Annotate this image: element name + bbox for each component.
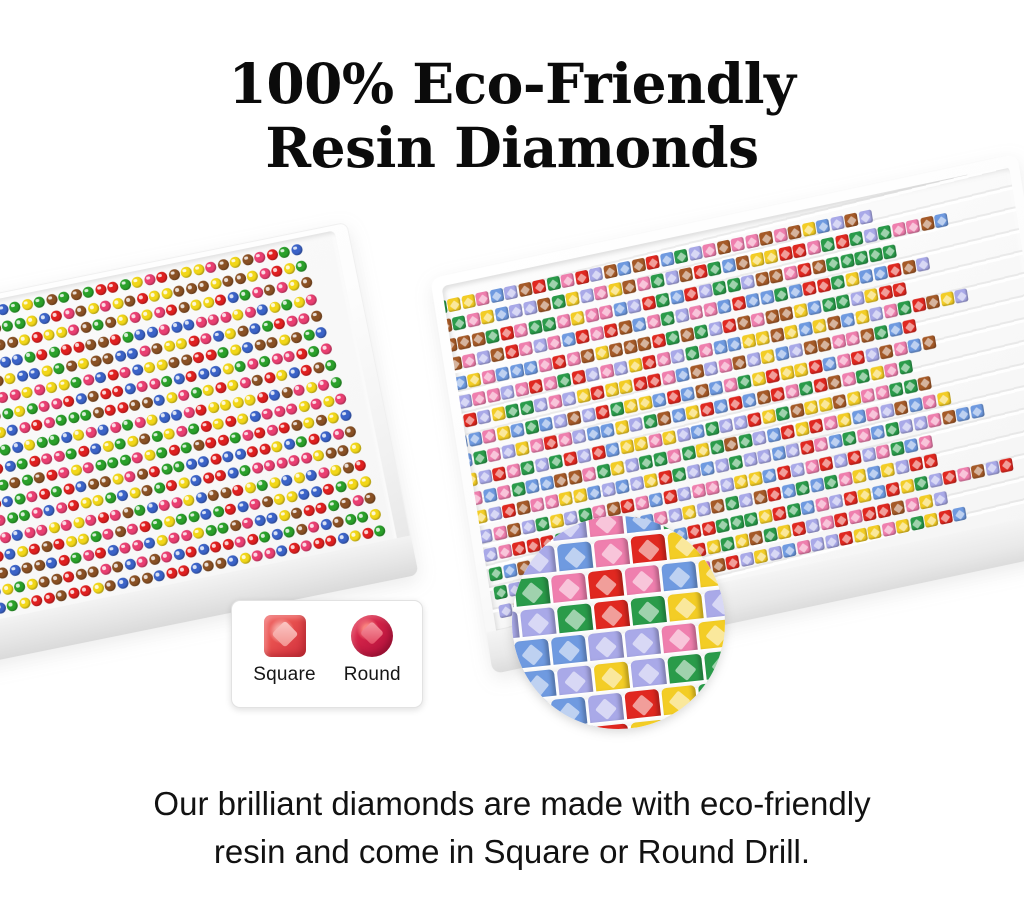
round-drill-bead bbox=[109, 333, 122, 346]
square-drill-bead bbox=[842, 431, 857, 447]
square-drill-bead bbox=[879, 344, 894, 360]
round-drill-bead bbox=[25, 490, 38, 503]
round-drill-bead bbox=[175, 425, 188, 438]
square-drill-bead bbox=[633, 436, 648, 452]
square-drill-bead bbox=[660, 311, 675, 327]
square-drill-bead bbox=[600, 423, 615, 439]
square-drill-bead bbox=[518, 282, 533, 298]
round-drill-bead bbox=[0, 479, 9, 492]
square-drill-bead bbox=[824, 475, 839, 491]
square-drill-bead bbox=[619, 439, 634, 455]
square-drill-bead bbox=[584, 307, 599, 323]
square-drill-bead bbox=[581, 407, 596, 423]
round-drill-bead bbox=[79, 497, 92, 510]
round-drill-bead bbox=[268, 301, 281, 314]
round-drill-bead bbox=[300, 540, 313, 553]
square-drill-bead bbox=[868, 247, 883, 263]
round-drill-bead bbox=[165, 567, 178, 580]
round-drill-bead bbox=[243, 306, 256, 319]
round-drill-bead bbox=[126, 435, 139, 448]
round-drill-bead bbox=[199, 420, 212, 433]
round-drill-bead bbox=[226, 379, 239, 392]
round-drill-bead bbox=[82, 549, 95, 562]
round-drill-bead bbox=[148, 378, 161, 391]
round-drill-bead bbox=[217, 434, 230, 447]
square-drill-bead bbox=[840, 312, 855, 328]
round-drill-bead bbox=[275, 369, 288, 382]
round-drill-bead bbox=[239, 552, 252, 565]
title-line-2: Resin Diamonds bbox=[0, 116, 1024, 180]
square-drill-bead bbox=[777, 524, 792, 540]
round-drill-bead bbox=[50, 573, 63, 586]
round-drill-bead bbox=[45, 557, 58, 570]
square-drill-bead bbox=[524, 419, 539, 435]
square-drill-bead bbox=[910, 516, 925, 532]
square-drill-bead bbox=[825, 256, 840, 272]
square-drill-bead bbox=[659, 252, 674, 268]
square-drill-bead bbox=[631, 258, 646, 274]
square-drill-bead bbox=[800, 499, 815, 515]
square-drill-bead bbox=[786, 502, 801, 518]
round-drill-bead bbox=[72, 428, 85, 441]
round-drill-bead bbox=[136, 292, 149, 305]
square-drill-bead bbox=[914, 475, 929, 491]
round-drill-bead bbox=[25, 403, 38, 416]
round-drill-bead bbox=[234, 448, 247, 461]
round-drill-bead bbox=[47, 345, 60, 358]
round-drill-bead bbox=[212, 417, 225, 430]
square-drill-bead bbox=[858, 209, 873, 225]
square-drill-bead bbox=[530, 497, 545, 513]
round-drill-bead bbox=[106, 544, 119, 557]
square-drill-bead bbox=[546, 276, 561, 292]
square-drill-bead bbox=[574, 270, 589, 286]
round-drill-bead bbox=[373, 525, 386, 538]
round-drill-bead bbox=[155, 359, 168, 372]
round-drill-bead bbox=[337, 445, 350, 458]
square-drill-bead bbox=[776, 465, 791, 481]
square-drill-bead bbox=[865, 406, 880, 422]
round-drill-bead bbox=[87, 566, 100, 579]
square-drill-bead bbox=[830, 275, 845, 291]
square-drill-bead bbox=[728, 396, 743, 412]
round-drill-bead bbox=[346, 478, 359, 491]
round-drill-bead bbox=[256, 479, 269, 492]
round-drill-bead bbox=[226, 291, 239, 304]
round-drill-bead bbox=[6, 512, 19, 525]
round-drill-bead bbox=[297, 312, 310, 325]
round-drill-bead bbox=[185, 546, 198, 559]
square-drill-bead bbox=[655, 292, 670, 308]
round-drill-bead bbox=[33, 559, 46, 572]
drill-shape-legend: Square Round bbox=[231, 600, 423, 708]
square-drill-bead bbox=[462, 353, 477, 369]
square-drill-bead bbox=[542, 316, 557, 332]
round-drill-bead bbox=[109, 421, 122, 434]
round-drill-bead bbox=[13, 581, 26, 594]
round-drill-bead bbox=[16, 545, 29, 558]
square-drill-bead bbox=[920, 216, 935, 232]
square-drill-bead bbox=[750, 312, 765, 328]
square-drill-bead bbox=[576, 388, 591, 404]
square-drill-bead bbox=[609, 401, 624, 417]
round-drill-bead bbox=[221, 450, 234, 463]
square-drill-bead bbox=[570, 310, 585, 326]
round-drill-bead bbox=[150, 430, 163, 443]
round-drill-bead bbox=[270, 528, 283, 541]
round-drill-bead bbox=[265, 424, 278, 437]
square-drill-bead bbox=[563, 451, 578, 467]
square-drill-bead bbox=[457, 394, 472, 410]
square-drill-bead bbox=[466, 313, 481, 329]
round-drill-bead bbox=[278, 509, 291, 522]
square-drill-bead bbox=[537, 298, 552, 314]
round-drill-bead bbox=[133, 503, 146, 516]
square-drill-bead bbox=[638, 454, 653, 470]
round-drill-bead bbox=[148, 290, 161, 303]
round-drill-bead bbox=[170, 320, 183, 333]
round-drill-bead bbox=[253, 251, 266, 264]
square-drill-bead bbox=[688, 246, 703, 262]
square-drill-bead bbox=[548, 454, 563, 470]
square-drill-bead bbox=[534, 457, 549, 473]
round-drill-bead bbox=[87, 390, 100, 403]
square-drill-bead bbox=[707, 261, 722, 277]
round-drill-bead bbox=[65, 359, 78, 372]
square-drill-bead bbox=[848, 509, 863, 525]
square-drill-bead bbox=[603, 264, 618, 280]
round-drill-bead bbox=[35, 436, 48, 449]
round-drill-bead bbox=[180, 266, 193, 279]
round-drill-bead bbox=[67, 412, 80, 425]
round-drill-bead bbox=[258, 531, 271, 544]
square-drill-bead bbox=[927, 413, 942, 429]
square-drill-bead bbox=[745, 293, 760, 309]
square-drill-bead bbox=[738, 433, 753, 449]
round-drill-bead bbox=[148, 465, 161, 478]
round-drill-bead bbox=[116, 402, 129, 415]
round-drill-bead bbox=[62, 395, 75, 408]
round-drill-bead bbox=[261, 407, 274, 420]
round-drill-bead bbox=[297, 488, 310, 501]
round-drill-bead bbox=[168, 444, 181, 457]
round-drill-bead bbox=[96, 423, 109, 436]
square-drill-bead bbox=[672, 467, 687, 483]
square-drill-bead bbox=[632, 317, 647, 333]
round-drill-bead bbox=[256, 303, 269, 316]
square-drill-bead bbox=[854, 250, 869, 266]
round-drill-bead bbox=[361, 527, 374, 540]
round-drill-bead bbox=[101, 440, 114, 453]
square-drill-bead bbox=[714, 399, 729, 415]
square-drill-bead bbox=[806, 240, 821, 256]
round-drill-bead bbox=[305, 293, 318, 306]
round-drill-bead bbox=[263, 372, 276, 385]
round-drill-bead bbox=[150, 518, 163, 531]
round-drill-bead bbox=[177, 565, 190, 578]
caption-line-2: resin and come in Square or Round Drill. bbox=[0, 828, 1024, 876]
square-drill-bead bbox=[880, 403, 895, 419]
square-drill-bead bbox=[819, 515, 834, 531]
round-drill-bead bbox=[40, 364, 53, 377]
round-drill-bead bbox=[324, 359, 337, 372]
square-drill-bead bbox=[596, 464, 611, 480]
round-drill-bead bbox=[138, 432, 151, 445]
square-drill-bead bbox=[724, 496, 739, 512]
round-drill-bead bbox=[172, 460, 185, 473]
round-drill-bead bbox=[94, 547, 107, 560]
square-drill-bead bbox=[841, 372, 856, 388]
square-drill-bead bbox=[462, 413, 477, 429]
square-drill-bead bbox=[814, 496, 829, 512]
round-drill-bead bbox=[11, 441, 24, 454]
round-drill-bead bbox=[314, 326, 327, 339]
square-drill-bead bbox=[623, 339, 638, 355]
square-drill-bead bbox=[839, 531, 854, 547]
square-drill-bead bbox=[694, 383, 709, 399]
round-drill-bead bbox=[221, 538, 234, 551]
square-drill-bead bbox=[855, 309, 870, 325]
round-drill-bead bbox=[268, 476, 281, 489]
square-drill-bead bbox=[506, 463, 521, 479]
round-drill-bead bbox=[197, 280, 210, 293]
square-drill-bead bbox=[756, 390, 771, 406]
square-drill-bead bbox=[525, 479, 540, 495]
round-drill-bead bbox=[337, 532, 350, 545]
square-drill-bead bbox=[862, 506, 877, 522]
square-drill-bead bbox=[926, 294, 941, 310]
round-drill-bead bbox=[160, 551, 173, 564]
square-drill-bead bbox=[714, 458, 729, 474]
square-drill-bead bbox=[985, 460, 1000, 476]
round-drill-bead bbox=[143, 273, 156, 286]
square-drill-bead bbox=[704, 421, 719, 437]
round-drill-bead bbox=[106, 369, 119, 382]
square-drill-bead bbox=[785, 443, 800, 459]
round-drill-bead bbox=[3, 372, 16, 385]
round-drill-bead bbox=[111, 385, 124, 398]
square-drill-bead bbox=[679, 267, 694, 283]
square-drill-bead bbox=[820, 237, 835, 253]
round-drill-bead bbox=[363, 492, 376, 505]
square-drill-bead bbox=[476, 350, 491, 366]
square-drill-bead bbox=[888, 322, 903, 338]
round-drill-bead bbox=[283, 262, 296, 275]
round-drill-bead bbox=[111, 297, 124, 310]
square-drill-bead bbox=[893, 341, 908, 357]
round-drill-bead bbox=[16, 457, 29, 470]
square-drill-bead bbox=[764, 249, 779, 265]
round-drill-bead bbox=[60, 343, 73, 356]
square-drill-bead bbox=[739, 493, 754, 509]
round-drill-bead bbox=[38, 400, 51, 413]
round-drill-bead bbox=[74, 393, 87, 406]
round-drill-bead bbox=[207, 489, 220, 502]
square-drill-bead bbox=[666, 389, 681, 405]
square-drill-bead bbox=[918, 435, 933, 451]
round-drill-bead bbox=[77, 357, 90, 370]
round-drill-bead bbox=[339, 409, 352, 422]
square-drill-bead bbox=[594, 345, 609, 361]
round-drill-bead bbox=[121, 330, 134, 343]
round-drill-bead bbox=[256, 391, 269, 404]
square-drill-bead bbox=[510, 422, 525, 438]
square-drill-bead bbox=[589, 267, 604, 283]
square-drill-bead bbox=[941, 410, 956, 426]
square-drill-bead bbox=[661, 370, 676, 386]
round-drill-bead bbox=[297, 400, 310, 413]
round-drill-bead bbox=[13, 317, 26, 330]
square-drill-bead bbox=[580, 348, 595, 364]
square-drill-bead bbox=[519, 400, 534, 416]
square-drill-bead bbox=[513, 322, 528, 338]
round-drill-bead bbox=[170, 496, 183, 509]
square-drill-bead bbox=[514, 382, 529, 398]
round-drill-bead bbox=[292, 471, 305, 484]
square-drill-bead bbox=[722, 318, 737, 334]
round-drill-bead bbox=[302, 329, 315, 342]
square-drill-bead bbox=[908, 397, 923, 413]
square-drill-bead bbox=[758, 508, 773, 524]
round-drill-bead bbox=[182, 406, 195, 419]
square-drill-bead bbox=[870, 425, 885, 441]
round-drill-bead bbox=[214, 294, 227, 307]
round-drill-bead bbox=[55, 414, 68, 427]
square-drill-bead bbox=[837, 412, 852, 428]
round-drill-bead bbox=[207, 313, 220, 326]
round-drill-bead bbox=[194, 315, 207, 328]
round-drill-bead bbox=[182, 494, 195, 507]
round-drill-bead bbox=[109, 508, 122, 521]
square-drill-bead bbox=[851, 409, 866, 425]
square-drill-bead bbox=[871, 484, 886, 500]
square-drill-bead bbox=[515, 441, 530, 457]
round-drill-bead bbox=[21, 386, 34, 399]
round-drill-bead bbox=[224, 415, 237, 428]
round-drill-bead bbox=[57, 291, 70, 304]
square-drill-bead bbox=[817, 337, 832, 353]
square-drill-bead bbox=[648, 492, 663, 508]
round-drill-bead bbox=[236, 500, 249, 513]
round-drill-bead bbox=[55, 502, 68, 515]
round-drill-bead bbox=[145, 501, 158, 514]
round-drill-bead bbox=[288, 455, 301, 468]
square-drill-bead bbox=[952, 507, 967, 523]
square-drill-bead bbox=[902, 319, 917, 335]
square-drill-bead bbox=[503, 285, 518, 301]
square-drill-bead bbox=[613, 301, 628, 317]
square-drill-bead bbox=[543, 435, 558, 451]
round-drill-bead bbox=[160, 375, 173, 388]
square-drill-bead bbox=[702, 243, 717, 259]
square-drill-bead bbox=[843, 490, 858, 506]
round-drill-bead bbox=[295, 348, 308, 361]
round-drill-bead bbox=[368, 508, 381, 521]
square-drill-bead bbox=[579, 289, 594, 305]
caption-text: Our brilliant diamonds are made with eco… bbox=[0, 780, 1024, 876]
round-drill-bead bbox=[104, 404, 117, 417]
square-drill-bead bbox=[614, 361, 629, 377]
round-drill-bead bbox=[187, 510, 200, 523]
round-drill-bead bbox=[307, 521, 320, 534]
square-drill-bead bbox=[491, 407, 506, 423]
round-drill-bead bbox=[241, 253, 254, 266]
square-drill-bead bbox=[801, 222, 816, 238]
square-drill-bead bbox=[719, 477, 734, 493]
round-drill-bead bbox=[74, 480, 87, 493]
square-drill-bead bbox=[703, 302, 718, 318]
square-drill-bead bbox=[787, 225, 802, 241]
square-drill-bead bbox=[543, 376, 558, 392]
square-drill-bead bbox=[729, 455, 744, 471]
square-drill-bead bbox=[775, 346, 790, 362]
square-drill-bead bbox=[970, 404, 985, 420]
round-drill-bead bbox=[241, 429, 254, 442]
round-drill-bead bbox=[280, 474, 293, 487]
square-drill-bead bbox=[615, 479, 630, 495]
square-drill-bead bbox=[721, 258, 736, 274]
square-drill-bead bbox=[876, 503, 891, 519]
square-drill-bead bbox=[923, 453, 938, 469]
square-drill-bead bbox=[457, 334, 472, 350]
square-drill-bead bbox=[970, 463, 985, 479]
square-drill-bead bbox=[539, 476, 554, 492]
round-drill-bead bbox=[359, 475, 372, 488]
square-drill-bead bbox=[663, 489, 678, 505]
square-drill-bead bbox=[662, 430, 677, 446]
square-drill-bead bbox=[461, 294, 476, 310]
square-drill-bead bbox=[895, 519, 910, 535]
square-drill-bead bbox=[471, 331, 486, 347]
square-drill-bead bbox=[823, 415, 838, 431]
square-drill-bead bbox=[867, 525, 882, 541]
square-drill-bead bbox=[606, 501, 621, 517]
round-drill-bead bbox=[278, 334, 291, 347]
round-drill-bead bbox=[283, 438, 296, 451]
square-drill-bead bbox=[907, 338, 922, 354]
square-drill-bead bbox=[819, 456, 834, 472]
square-drill-bead bbox=[582, 467, 597, 483]
square-drill-bead bbox=[609, 342, 624, 358]
square-drill-bead bbox=[760, 290, 775, 306]
round-drill-bead bbox=[101, 352, 114, 365]
round-drill-bead bbox=[187, 422, 200, 435]
round-drill-bead bbox=[199, 332, 212, 345]
round-drill-bead bbox=[246, 533, 259, 546]
square-drill-bead bbox=[509, 363, 524, 379]
square-drill-bead bbox=[713, 340, 728, 356]
square-drill-bead bbox=[850, 291, 865, 307]
round-drill-bead bbox=[158, 323, 171, 336]
round-drill-bead bbox=[79, 321, 92, 334]
round-drill-bead bbox=[300, 452, 313, 465]
square-drill-bead bbox=[681, 445, 696, 461]
round-drill-bead bbox=[170, 408, 183, 421]
round-drill-bead bbox=[324, 447, 337, 460]
round-drill-bead bbox=[319, 518, 332, 531]
round-drill-bead bbox=[74, 568, 87, 581]
square-drill-bead bbox=[698, 283, 713, 299]
square-drill-bead bbox=[492, 466, 507, 482]
square-drill-bead bbox=[467, 372, 482, 388]
legend-item-square: Square bbox=[253, 615, 315, 686]
square-drill-bead bbox=[557, 373, 572, 389]
round-drill-bead bbox=[270, 440, 283, 453]
round-drill-bead bbox=[119, 278, 132, 291]
round-drill-bead bbox=[190, 299, 203, 312]
square-drill-bead bbox=[648, 433, 663, 449]
square-drill-bead bbox=[589, 326, 604, 342]
